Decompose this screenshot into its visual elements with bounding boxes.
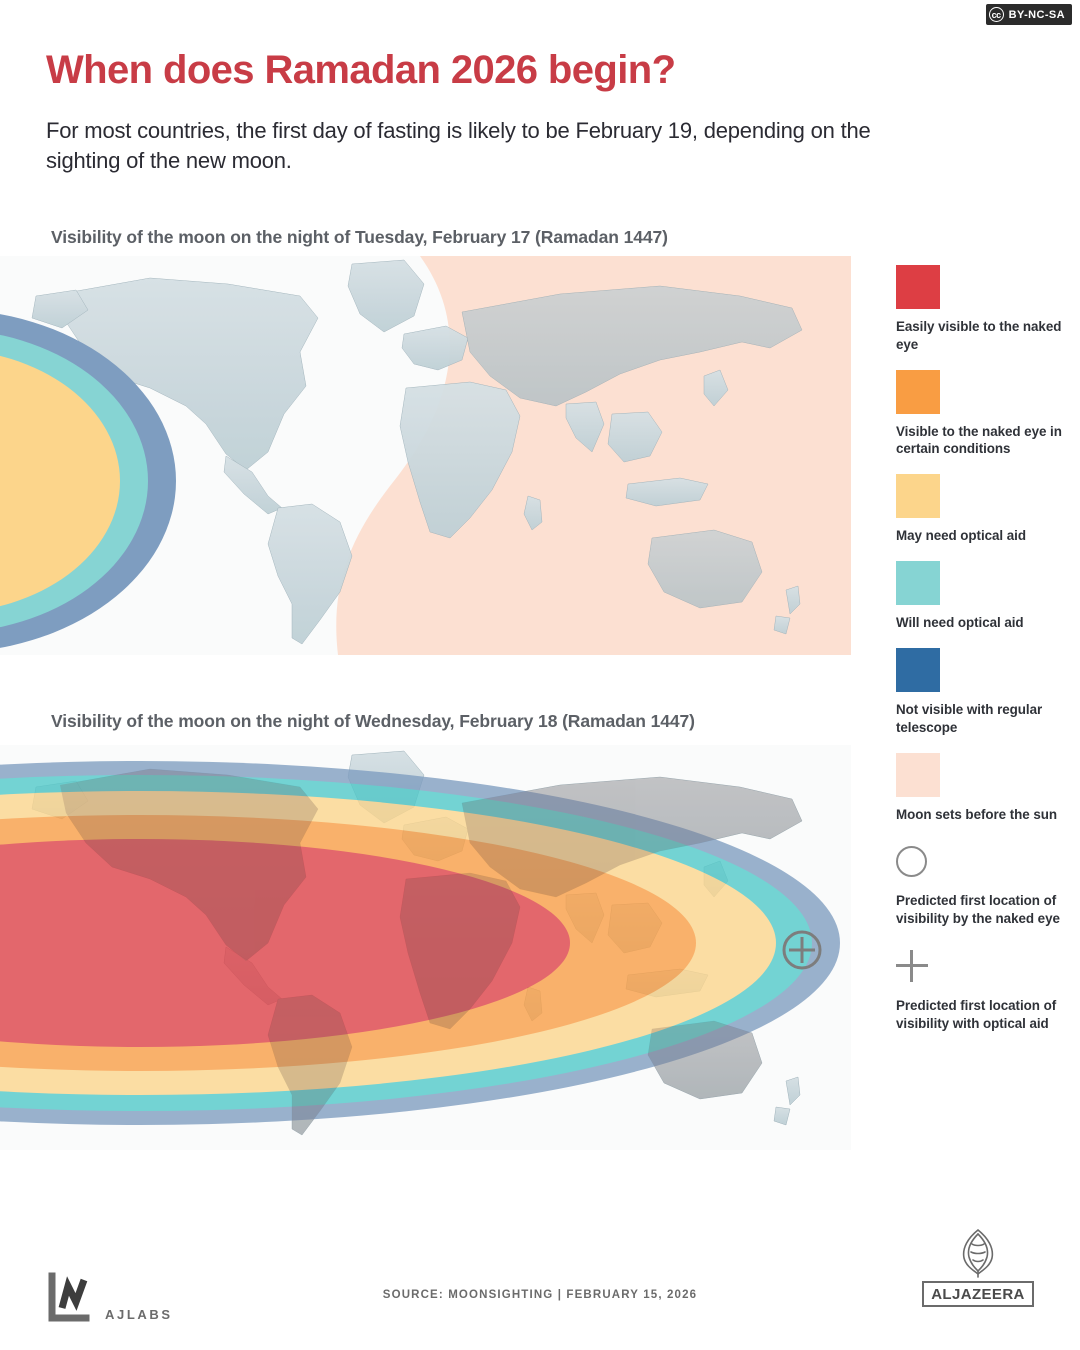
map2-graphic [0, 745, 851, 1150]
legend-item-may-need-aid: May need optical aid [896, 474, 1072, 545]
aljazeera-logo: ALJAZEERA [922, 1228, 1034, 1307]
plus-marker-icon [896, 944, 940, 988]
first-visibility-marker [784, 932, 820, 968]
map-feb-17 [0, 256, 851, 655]
cc-icon: cc [989, 7, 1004, 22]
legend-label-naked-eye-location: Predicted first location of visibility b… [896, 892, 1072, 928]
legend-swatch-may-need-aid [896, 474, 940, 518]
map2-title: Visibility of the moon on the night of W… [51, 711, 695, 732]
legend-label-not-visible: Not visible with regular telescope [896, 701, 1072, 737]
legend-swatch-not-visible [896, 648, 940, 692]
legend: Easily visible to the naked eye Visible … [896, 265, 1072, 1049]
ajlabs-text: AJLABS [105, 1307, 173, 1326]
page-title: When does Ramadan 2026 begin? [46, 48, 675, 93]
legend-label-will-need-aid: Will need optical aid [896, 614, 1072, 632]
infographic-page: cc BY-NC-SA When does Ramadan 2026 begin… [0, 0, 1080, 1350]
legend-label-moon-sets-first: Moon sets before the sun [896, 806, 1072, 824]
legend-swatch-certain-conditions [896, 370, 940, 414]
map-feb-18 [0, 745, 851, 1150]
legend-swatch-easily-visible [896, 265, 940, 309]
legend-swatch-moon-sets-first [896, 753, 940, 797]
map1-graphic [0, 256, 851, 655]
legend-label-may-need-aid: May need optical aid [896, 527, 1072, 545]
source-line: SOURCE: MOONSIGHTING | FEBRUARY 15, 2026 [0, 1289, 1080, 1301]
circle-marker-icon [896, 839, 940, 883]
legend-item-will-need-aid: Will need optical aid [896, 561, 1072, 632]
aljazeera-wordmark: ALJAZEERA [922, 1281, 1034, 1307]
legend-item-not-visible: Not visible with regular telescope [896, 648, 1072, 737]
aljazeera-calligraphy-icon [948, 1228, 1008, 1278]
cc-license-text: BY-NC-SA [1009, 9, 1065, 21]
legend-label-optical-aid-location: Predicted first location of visibility w… [896, 997, 1072, 1033]
legend-label-easily-visible: Easily visible to the naked eye [896, 318, 1072, 354]
legend-item-naked-eye-location: Predicted first location of visibility b… [896, 839, 1072, 928]
legend-item-easily-visible: Easily visible to the naked eye [896, 265, 1072, 354]
legend-item-certain-conditions: Visible to the naked eye in certain cond… [896, 370, 1072, 459]
legend-item-moon-sets-first: Moon sets before the sun [896, 753, 1072, 824]
legend-swatch-will-need-aid [896, 561, 940, 605]
creative-commons-badge: cc BY-NC-SA [986, 4, 1072, 25]
page-subtitle: For most countries, the first day of fas… [46, 116, 886, 177]
map1-title: Visibility of the moon on the night of T… [51, 227, 668, 248]
legend-label-certain-conditions: Visible to the naked eye in certain cond… [896, 423, 1072, 459]
legend-item-optical-aid-location: Predicted first location of visibility w… [896, 944, 1072, 1033]
